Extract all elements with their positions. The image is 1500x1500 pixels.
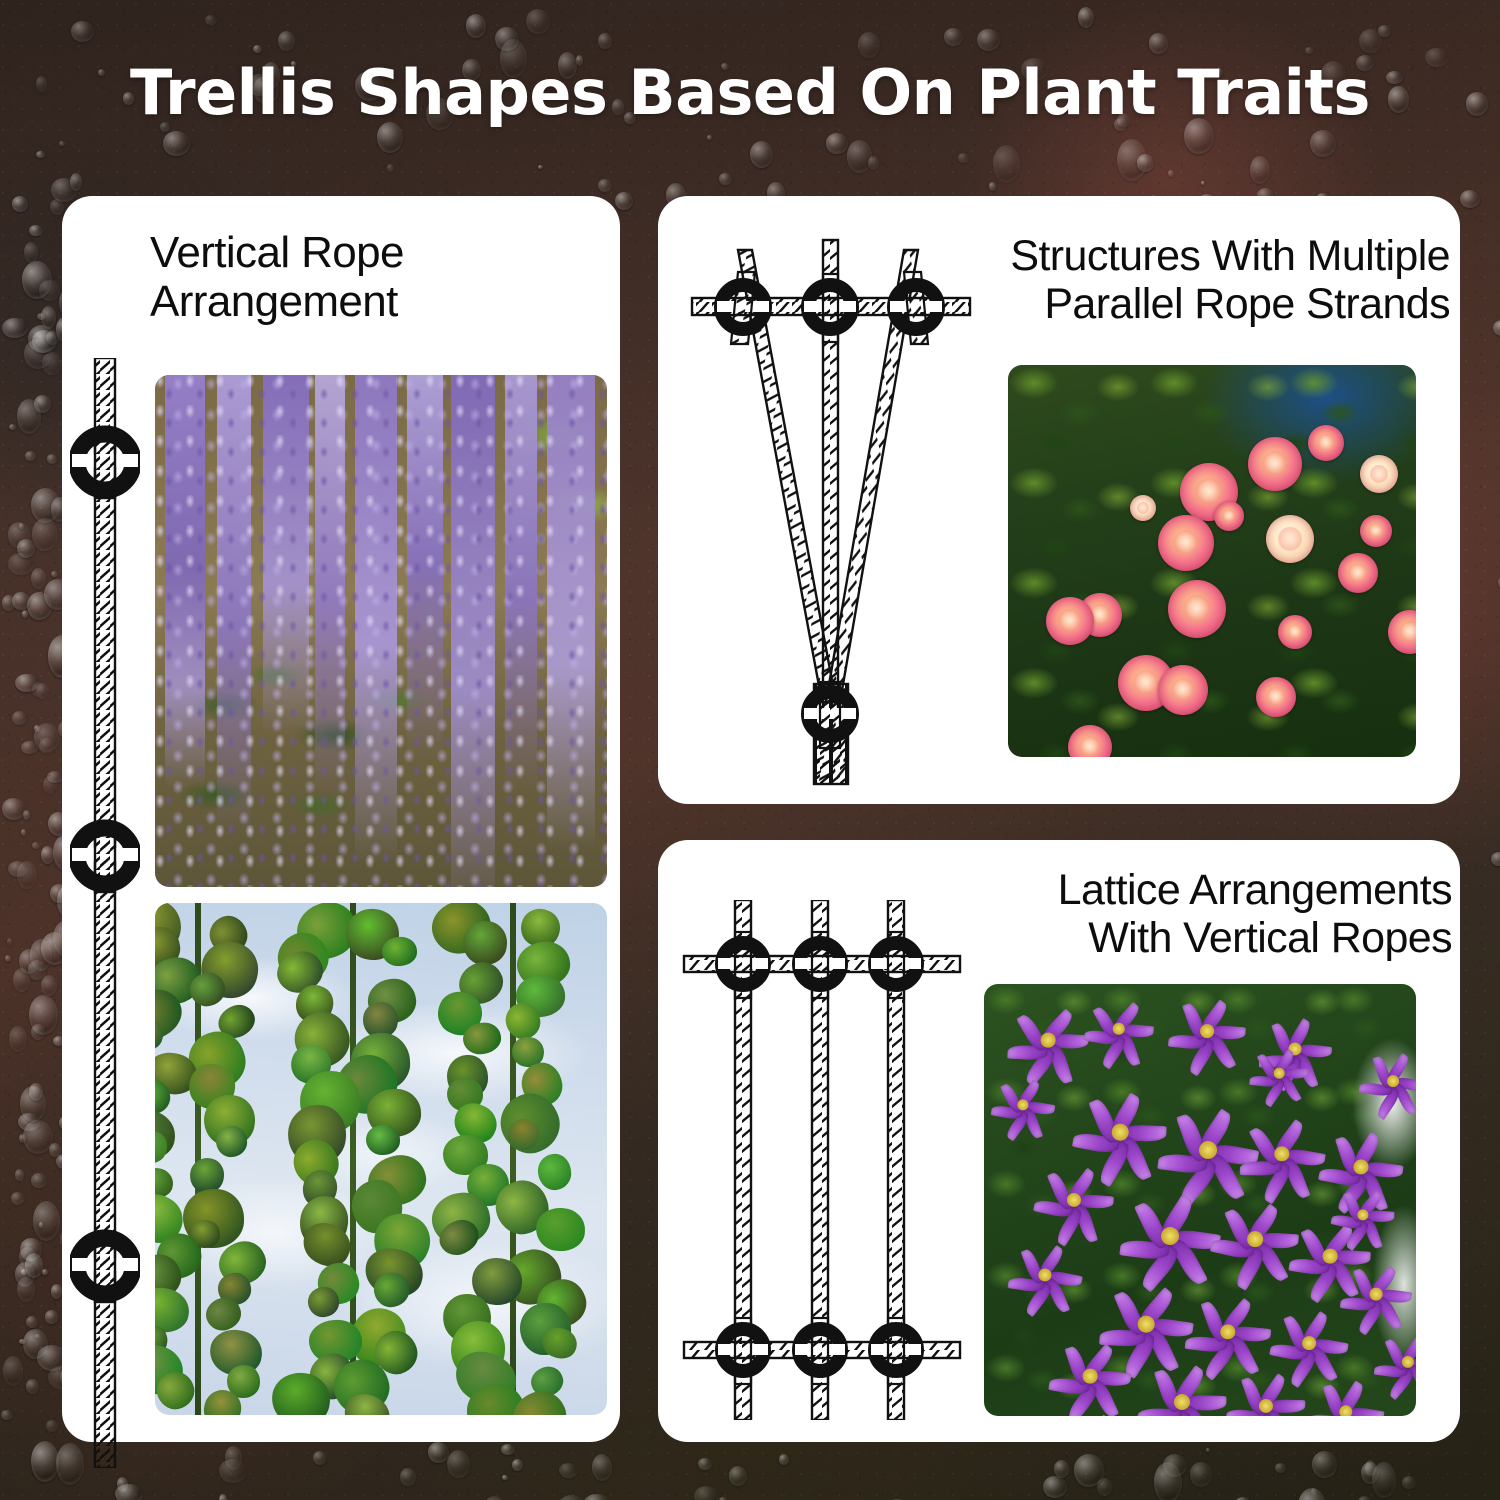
water-droplet [21,829,26,836]
clematis-center [1041,1033,1056,1048]
water-droplet [115,1484,143,1500]
water-droplet [512,1459,523,1471]
card-title-line-1: Vertical Rope [150,228,580,277]
clamp-ring-icon-5 [795,1318,845,1384]
card-title-lattice: Lattice Arrangements With Vertical Ropes [900,866,1452,962]
water-droplet [25,451,36,461]
water-droplet [944,28,962,46]
clematis-center [1274,1068,1285,1079]
water-droplet [719,1497,726,1500]
water-droplet [858,32,881,58]
water-droplet [707,135,712,140]
water-droplet [32,518,58,551]
water-droplet [17,1277,35,1302]
water-droplet [993,145,1020,183]
clamp-ring-icon-1 [718,932,768,998]
water-droplet [29,225,43,236]
card-title-line-1: Lattice Arrangements [900,866,1452,914]
clematis-bloom [988,1070,1058,1140]
water-droplet [31,568,45,589]
card-title-vertical-rope: Vertical Rope Arrangement [150,228,580,327]
water-droplet [71,21,94,41]
water-droplet [32,842,40,848]
water-droplet [31,1024,44,1040]
card-title-line-2: Parallel Rope Strands [950,280,1450,328]
vine-leaf [365,1125,399,1156]
clematis-bloom [1328,1180,1398,1250]
clematis-center [1339,1405,1352,1416]
rose-bloom [1158,665,1208,715]
clamp-ring-icon-3 [72,1232,138,1302]
water-droplet [559,1463,578,1478]
water-droplet [17,861,36,889]
clematis-bloom [1150,1404,1230,1416]
water-droplet [1312,1451,1337,1478]
water-droplet [400,1468,415,1486]
clematis-center [1302,1336,1316,1350]
clematis-center [1200,1024,1214,1038]
clematis-center [1112,1124,1129,1141]
water-droplet [1275,1463,1286,1472]
card-title-line-2: With Vertical Ropes [900,914,1452,962]
clematis-center [1199,1141,1217,1159]
card-title-line-1: Structures With Multiple [950,232,1450,280]
diagram-fan-rope-strands [680,232,980,792]
clematis-bloom [1164,988,1250,1074]
card-title-parallel-strands: Structures With Multiple Parallel Rope S… [950,232,1450,328]
clematis-center [1083,1369,1098,1384]
water-droplet [51,1284,62,1299]
water-droplet [750,141,773,168]
rose-bloom [1158,515,1214,571]
clematis-bloom [1080,990,1158,1068]
water-droplet [428,1442,448,1463]
water-droplet [598,179,613,192]
water-droplet [17,539,35,558]
water-droplet [7,938,12,945]
clematis-petal [1082,1415,1111,1416]
wisteria-floret-texture [155,375,607,887]
clamp-ring-icon-6 [871,1318,921,1384]
clematis-center [1387,1075,1399,1087]
water-droplet [1154,1462,1182,1500]
clematis-bloom [1004,1234,1086,1316]
photo-climbing-roses [1008,365,1416,757]
water-droplet [868,156,879,170]
water-droplet [13,968,30,992]
water-droplet [205,15,217,25]
clematis-bloom [1336,1254,1416,1334]
water-droplet [22,261,52,298]
clematis-center [1247,1231,1263,1247]
water-droplet [847,140,873,173]
photo-purple-clematis [984,984,1416,1416]
water-droplet [9,1026,27,1051]
water-droplet [1117,139,1147,182]
water-droplet [2,798,24,820]
clematis-bloom [1030,1156,1118,1244]
rose-bloom [1248,437,1302,491]
water-droplet [17,399,41,434]
water-droplet [11,1192,25,1205]
page-title: Trellis Shapes Based On Plant Traits [0,62,1500,124]
water-droplet [1043,1476,1066,1498]
water-droplet [387,164,394,173]
water-droplet [1305,47,1314,54]
rose-bloom [1046,597,1094,645]
water-droplet [5,955,11,962]
rose-bloom [1168,580,1226,638]
water-droplet [1078,7,1094,28]
rope-strand-left [738,250,836,702]
rose-bloom [1266,515,1314,563]
clamp-ring-icon-2 [804,274,856,342]
water-droplet [70,173,82,191]
rose-bloom [1360,515,1392,547]
water-droplet [615,192,633,210]
water-droplet [29,1083,42,1100]
water-droplet [1491,852,1500,866]
water-droplet [989,182,996,191]
water-droplet [1460,190,1480,208]
clematis-center [1353,1159,1368,1174]
water-droplet [31,1441,59,1482]
water-droplet [12,592,30,610]
clamp-ring-icon-2 [795,932,845,998]
water-droplet [163,131,189,155]
water-droplet [1168,170,1174,177]
water-droplet [977,29,1000,51]
water-droplet [1250,156,1270,184]
infographic-page: Trellis Shapes Based On Plant Traits Ver… [0,0,1500,1500]
water-droplet [1359,29,1381,53]
photo-wisteria [155,375,607,887]
clematis-bloom [1356,1044,1416,1118]
water-droplet [26,1379,38,1393]
water-droplet [1,1410,13,1420]
clamp-ring-icon-2 [72,822,138,892]
card-title-line-2: Arrangement [150,277,580,326]
clematis-center [1161,1227,1179,1245]
water-droplet [12,196,28,212]
clematis-center [1370,1288,1383,1301]
water-droplet [598,33,611,49]
water-droplet [45,1310,59,1324]
water-droplet [19,523,24,528]
water-droplet [31,1173,47,1189]
water-droplet [526,9,550,34]
diagram-lattice-rope [672,900,972,1420]
water-droplet [1149,33,1169,53]
rose-bloom [1256,677,1296,717]
clematis-bloom [1054,1404,1126,1416]
water-droplet [41,846,54,864]
water-droplet [1201,181,1206,185]
clematis-center [1138,1316,1155,1333]
water-droplet [958,153,968,163]
clematis-bloom [1222,1362,1310,1416]
rose-bloom [1278,615,1312,649]
photo-climbing-vines [155,903,607,1415]
water-droplet [826,133,849,153]
water-droplet [501,1444,515,1455]
water-droplet [225,1446,243,1470]
rose-bloom [1214,501,1244,531]
water-droplet [447,1450,470,1478]
water-droplet [698,1458,712,1471]
water-droplet [719,173,731,186]
rose-bloom [1130,495,1156,521]
water-droplet [219,1494,227,1500]
clamp-ring-icon-1 [72,428,138,498]
water-droplet [466,14,487,37]
rose-bloom [1338,553,1378,593]
water-droplet [47,771,63,783]
water-droplet [1310,130,1336,156]
clematis-bloom [1370,1324,1416,1400]
water-droplet [12,711,27,725]
clamp-ring-icon-4 [718,1318,768,1384]
water-droplet [502,1475,507,1481]
water-droplet [1206,1448,1210,1452]
water-droplet [1361,1462,1379,1484]
clematis-bloom [1246,1040,1312,1106]
rose-bloom [1308,425,1344,461]
water-droplet [19,1134,25,1143]
diagram-single-vertical-rope [70,358,140,1468]
water-droplet [41,975,57,997]
water-droplet [1074,1454,1103,1486]
water-droplet [495,27,518,52]
clamp-ring-icon-3 [871,932,921,998]
vine-stem [510,903,516,1415]
rose-bloom [1360,455,1398,493]
water-droplet [24,242,38,263]
